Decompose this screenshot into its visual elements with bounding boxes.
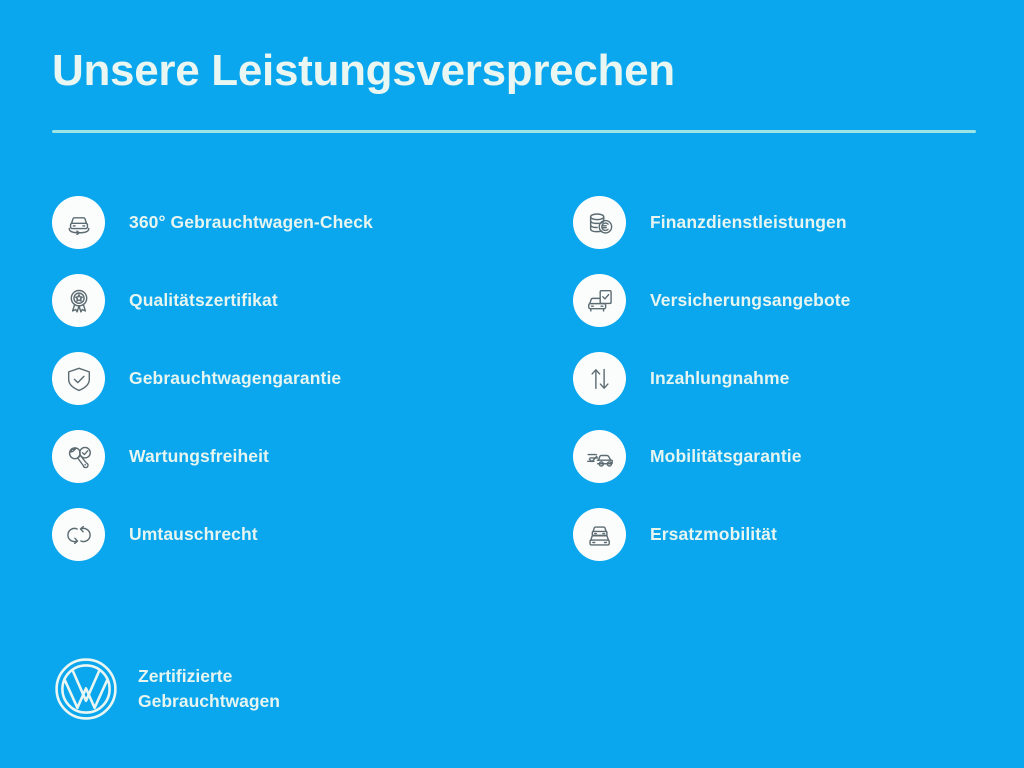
two-cars-icon bbox=[573, 508, 626, 561]
promises-right-column: Finanzdienstleistungen Versicheru bbox=[0, 196, 1024, 561]
car-document-check-icon bbox=[573, 274, 626, 327]
footer-brand: Zertifizierte Gebrauchtwagen bbox=[52, 655, 280, 723]
title-divider bbox=[52, 130, 976, 133]
list-item[interactable]: Versicherungsangebote bbox=[573, 274, 1024, 327]
page-title: Unsere Leistungsversprechen bbox=[52, 48, 976, 94]
coins-euro-icon bbox=[573, 196, 626, 249]
list-item-label: Mobilitätsgarantie bbox=[650, 446, 802, 467]
header: Unsere Leistungsversprechen bbox=[52, 48, 976, 94]
list-item-label: Ersatzmobilität bbox=[650, 524, 777, 545]
promise-page: Unsere Leistungsversprechen 360° Gebrauc… bbox=[0, 0, 1024, 768]
list-item-label: Finanzdienstleistungen bbox=[650, 212, 847, 233]
list-item[interactable]: Finanzdienstleistungen bbox=[573, 196, 1024, 249]
list-item[interactable]: Inzahlungnahme bbox=[573, 352, 1024, 405]
list-item-label: Versicherungsangebote bbox=[650, 290, 851, 311]
promises-grid: 360° Gebrauchtwagen-Check Qualitätszerti… bbox=[0, 196, 1024, 561]
list-item[interactable]: Mobilitätsgarantie bbox=[573, 430, 1024, 483]
moving-car-icon bbox=[573, 430, 626, 483]
list-item[interactable]: Ersatzmobilität bbox=[573, 508, 1024, 561]
list-item-label: Inzahlungnahme bbox=[650, 368, 789, 389]
footer-brand-text: Zertifizierte Gebrauchtwagen bbox=[138, 664, 280, 714]
up-down-arrows-icon bbox=[573, 352, 626, 405]
volkswagen-logo-icon bbox=[52, 655, 120, 723]
